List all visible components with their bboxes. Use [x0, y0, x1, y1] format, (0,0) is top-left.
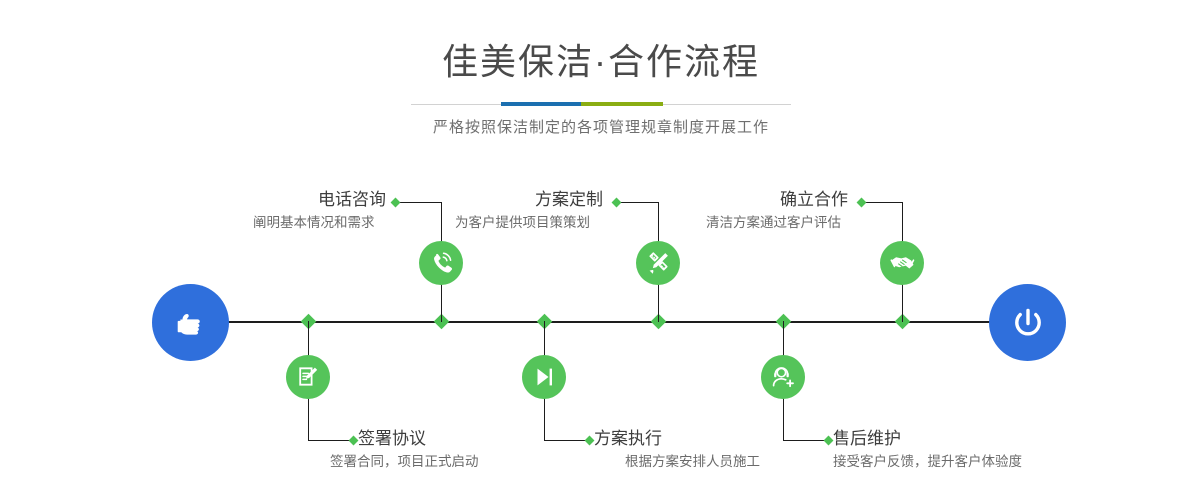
step-label-2: 签署协议	[358, 429, 426, 449]
pencil-ruler-icon	[645, 250, 671, 276]
connector-horizontal-6	[783, 440, 829, 441]
cooperation-process-infographic: 佳美保洁·合作流程 严格按照保洁制定的各项管理规章制度开展工作	[0, 0, 1202, 502]
page-subtitle: 严格按照保洁制定的各项管理规章制度开展工作	[0, 116, 1202, 137]
handshake-icon	[889, 250, 916, 277]
divider-segment-green	[581, 102, 663, 106]
step-icon-3[interactable]	[636, 241, 680, 285]
step-desc-1: 阐明基本情况和需求	[253, 214, 375, 232]
header: 佳美保洁·合作流程 严格按照保洁制定的各项管理规章制度开展工作	[0, 0, 1202, 137]
step-icon-5[interactable]	[880, 241, 924, 285]
divider-segment-blue	[501, 102, 581, 106]
step-icon-6[interactable]	[761, 355, 805, 399]
connector-horizontal-5	[862, 202, 903, 203]
step-desc-3: 为客户提供项目策策划	[455, 214, 590, 232]
step-icon-1[interactable]	[419, 241, 463, 285]
pointing-hand-icon	[171, 303, 211, 343]
label-marker-3	[612, 198, 622, 208]
step-desc-4: 根据方案安排人员施工	[625, 453, 760, 471]
title-divider	[411, 102, 791, 106]
document-edit-icon	[295, 364, 321, 390]
step-label-5: 确立合作	[698, 190, 848, 210]
play-execute-icon	[531, 364, 557, 390]
power-icon	[1007, 302, 1049, 344]
label-marker-2	[349, 436, 359, 446]
page-title: 佳美保洁·合作流程	[0, 40, 1202, 84]
label-marker-5	[857, 198, 867, 208]
connector-horizontal-1	[396, 202, 442, 203]
label-marker-4	[585, 436, 595, 446]
step-desc-2: 签署合同，项目正式启动	[330, 453, 479, 471]
step-desc-6: 接受客户反馈，提升客户体验度	[833, 453, 1022, 471]
timeline-start-node	[152, 284, 229, 361]
step-icon-4[interactable]	[522, 355, 566, 399]
label-marker-1	[391, 198, 401, 208]
step-desc-5: 清洁方案通过客户评估	[706, 214, 841, 232]
connector-horizontal-2	[308, 440, 354, 441]
step-label-1: 电话咨询	[236, 190, 386, 210]
timeline-end-node	[989, 284, 1066, 361]
connector-horizontal-4	[544, 440, 590, 441]
step-label-3: 方案定制	[453, 190, 603, 210]
phone-call-icon	[428, 250, 454, 276]
label-marker-6	[824, 436, 834, 446]
customer-support-icon	[770, 364, 796, 390]
connector-horizontal-3	[617, 202, 659, 203]
step-label-4: 方案执行	[594, 429, 662, 449]
step-label-6: 售后维护	[833, 429, 901, 449]
step-icon-2[interactable]	[286, 355, 330, 399]
